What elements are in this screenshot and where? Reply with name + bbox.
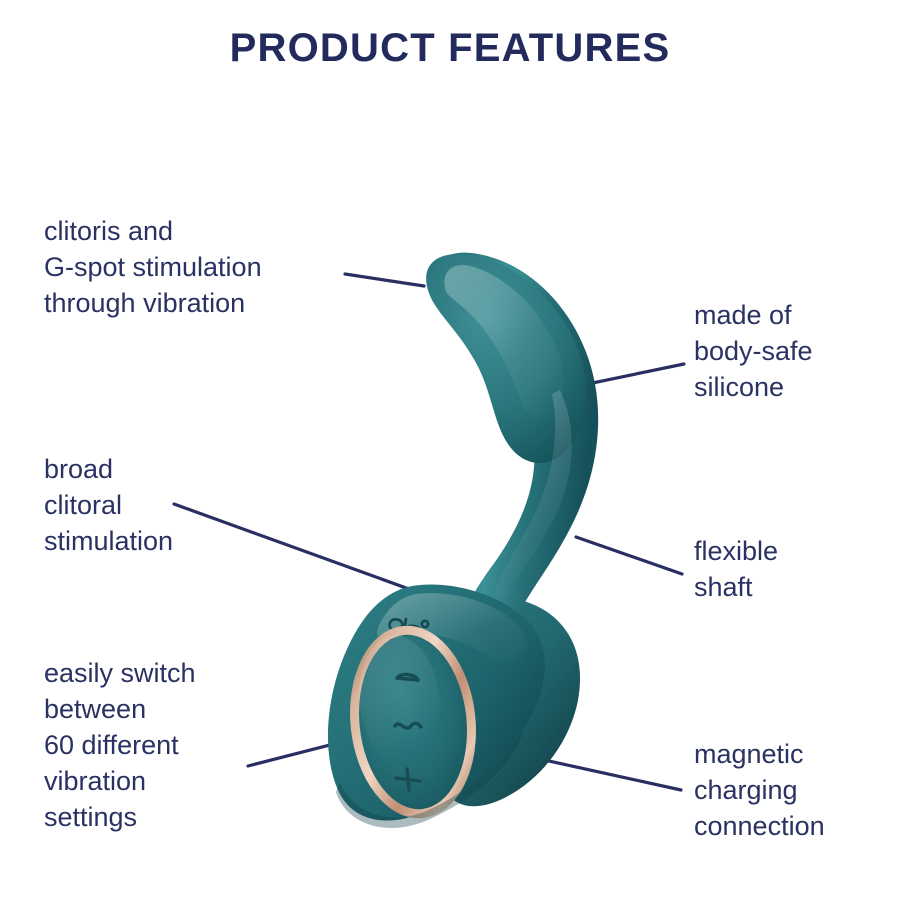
feature-label-flexible-shaft: flexible shaft [694, 534, 778, 606]
leader-line-clitoris-gspot [345, 274, 424, 286]
feature-label-broad-clitoral: broad clitoral stimulation [44, 452, 173, 560]
feature-label-body-safe-silicone: made of body-safe silicone [694, 298, 813, 406]
feature-label-vibration-settings: easily switch between 60 different vibra… [44, 656, 196, 836]
feature-label-clitoris-gspot: clitoris and G-spot stimulation through … [44, 214, 262, 322]
leader-line-broad-clitoral [174, 504, 409, 589]
product-features-infographic: PRODUCT FEATURES [0, 0, 900, 900]
feature-label-magnetic-charging: magnetic charging connection [694, 737, 825, 845]
leader-line-flexible-shaft [576, 537, 682, 574]
product-body [328, 253, 598, 828]
